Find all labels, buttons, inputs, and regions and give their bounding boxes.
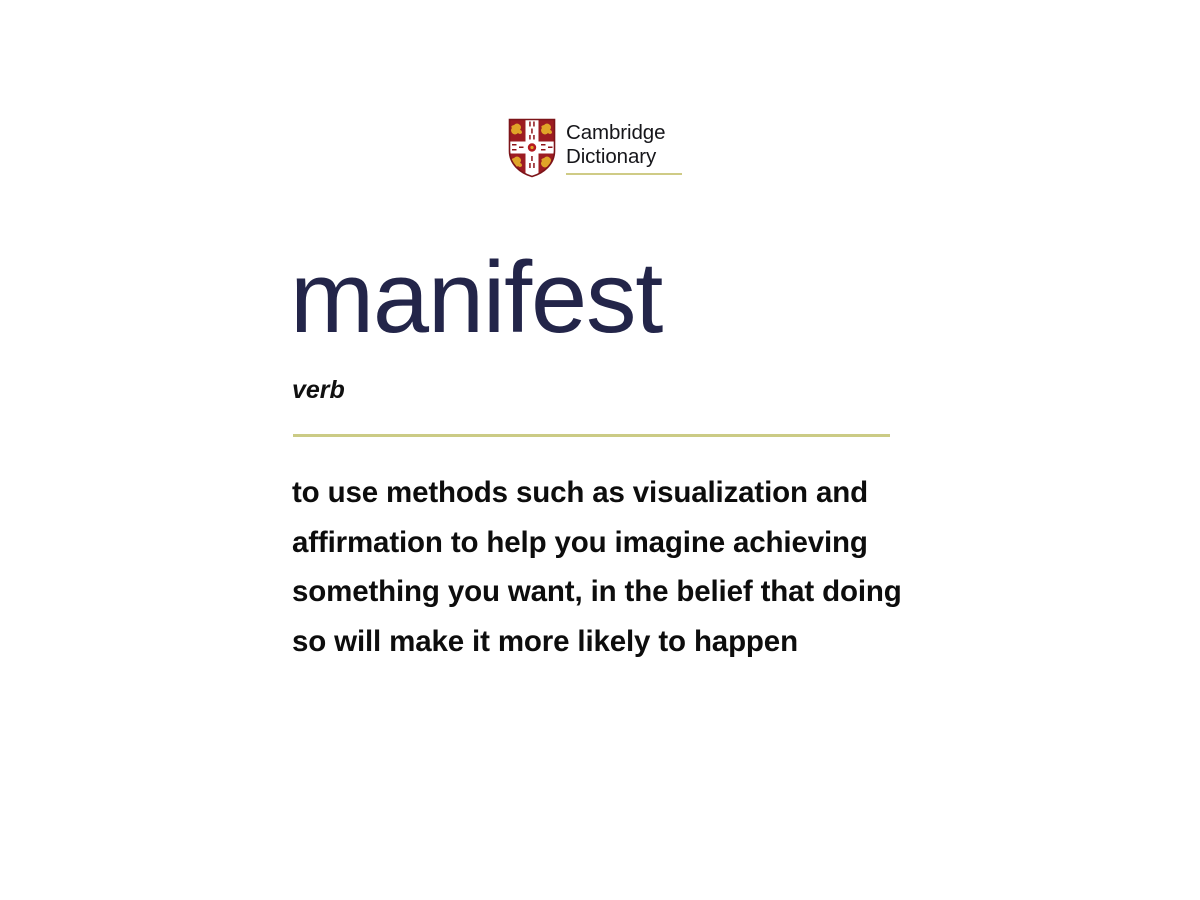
wordmark-line-dictionary: Dictionary	[566, 145, 682, 169]
headword: manifest	[290, 243, 662, 353]
cambridge-dictionary-wordmark: Cambridge Dictionary	[566, 118, 682, 175]
part-of-speech-label: verb	[292, 375, 345, 405]
wordmark-line-cambridge: Cambridge	[566, 121, 682, 145]
wordmark-underline	[566, 173, 682, 175]
cambridge-coat-of-arms-shield-icon	[508, 118, 556, 178]
entry-divider	[293, 434, 890, 437]
cambridge-dictionary-logo[interactable]: Cambridge Dictionary	[508, 118, 682, 178]
definition-text: to use methods such as visualization and…	[292, 468, 907, 666]
dictionary-entry-card: Cambridge Dictionary manifest verb to us…	[0, 0, 1200, 900]
